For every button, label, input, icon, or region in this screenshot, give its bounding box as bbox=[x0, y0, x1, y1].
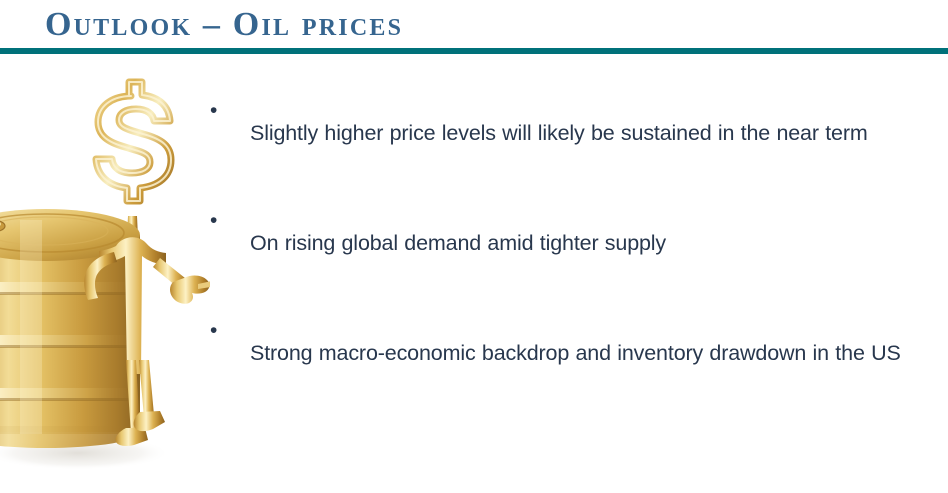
bullet-text: On rising global demand amid tighter sup… bbox=[250, 206, 940, 280]
list-item: • Slightly higher price levels will like… bbox=[205, 96, 940, 170]
list-item: • Strong macro-economic backdrop and inv… bbox=[205, 316, 940, 390]
bullet-marker-icon: • bbox=[205, 316, 250, 346]
gold-dollar-mascot-with-oil-barrel-image bbox=[0, 60, 210, 480]
oil-barrel bbox=[0, 209, 140, 448]
bullet-marker-icon: • bbox=[205, 96, 250, 126]
bullet-marker-icon: • bbox=[205, 206, 250, 236]
slide: Outlook – Oil prices bbox=[0, 0, 948, 493]
bullet-text: Slightly higher price levels will likely… bbox=[250, 96, 940, 170]
bullet-text: Strong macro-economic backdrop and inven… bbox=[250, 316, 940, 390]
title-divider bbox=[0, 48, 948, 54]
list-item: • On rising global demand amid tighter s… bbox=[205, 206, 940, 280]
mascot-figure bbox=[84, 237, 210, 446]
dollar-sign-head bbox=[96, 82, 171, 238]
bullet-list: • Slightly higher price levels will like… bbox=[205, 96, 940, 426]
page-title: Outlook – Oil prices bbox=[45, 2, 403, 48]
